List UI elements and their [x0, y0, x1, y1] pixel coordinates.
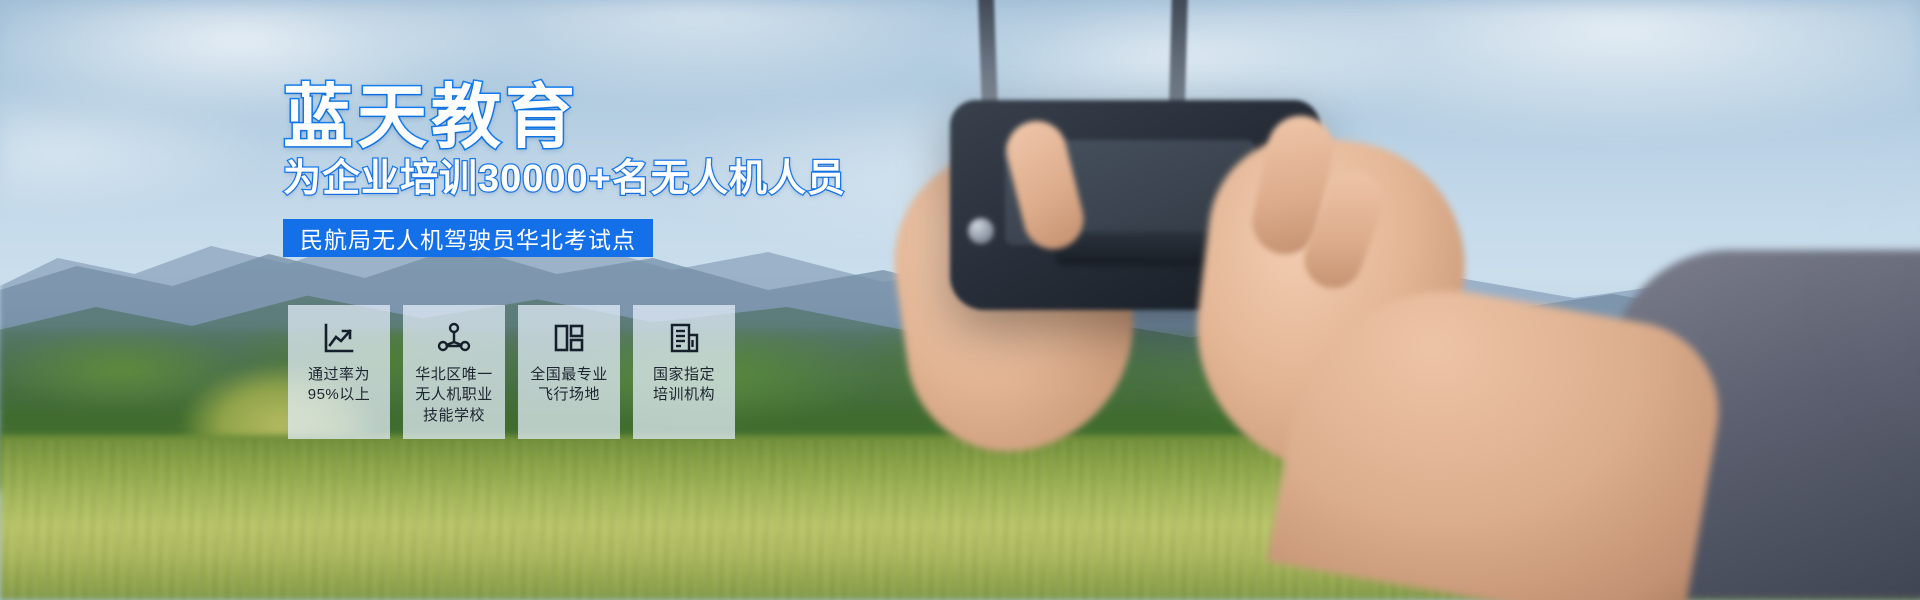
feature-card-label: 全国最专业 飞行场地	[530, 365, 608, 406]
feature-card-label: 通过率为 95%以上	[308, 365, 371, 406]
feature-card-flight-field[interactable]: 全国最专业 飞行场地	[518, 305, 620, 439]
feature-card-state-approved[interactable]: 国家指定 培训机构	[633, 305, 735, 439]
banner-content: 蓝天教育 为企业培训30000+名无人机人员 民航局无人机驾驶员华北考试点 通过…	[0, 0, 1920, 600]
hero-banner: 蓝天教育 为企业培训30000+名无人机人员 民航局无人机驾驶员华北考试点 通过…	[0, 0, 1920, 600]
feature-card-label: 华北区唯一 无人机职业 技能学校	[415, 365, 493, 426]
feature-card-vocational-school[interactable]: 华北区唯一 无人机职业 技能学校	[403, 305, 505, 439]
certification-badge: 民航局无人机驾驶员华北考试点	[283, 219, 653, 257]
banner-subheadline: 为企业培训30000+名无人机人员	[283, 160, 846, 198]
trending-up-chart-icon	[322, 321, 356, 355]
banner-headline: 蓝天教育	[283, 82, 579, 152]
layout-grid-icon	[552, 321, 586, 355]
feature-card-pass-rate[interactable]: 通过率为 95%以上	[288, 305, 390, 439]
feature-card-list: 通过率为 95%以上 华北区唯一 无人机职业 技能学校	[288, 305, 735, 439]
building-icon	[667, 321, 701, 355]
network-nodes-icon	[437, 321, 471, 355]
feature-card-label: 国家指定 培训机构	[653, 365, 715, 406]
